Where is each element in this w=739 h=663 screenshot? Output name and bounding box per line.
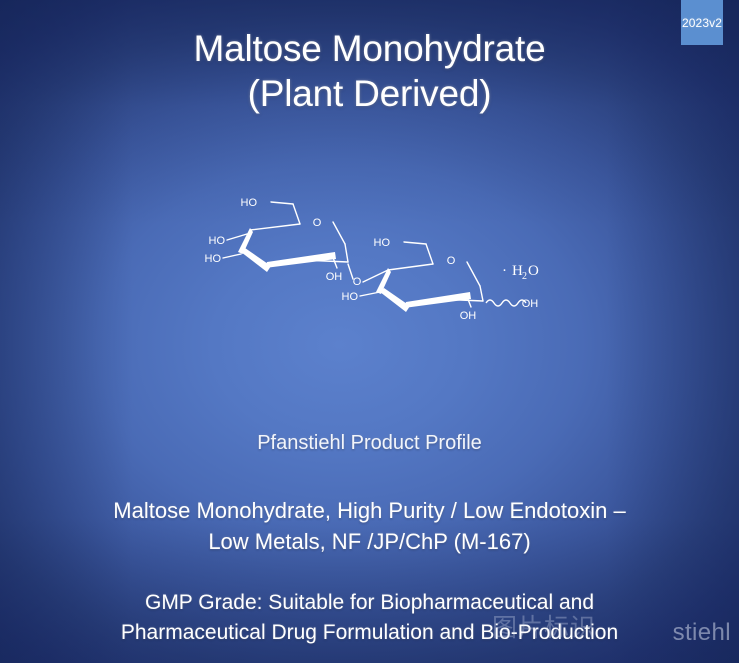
- label-ring1-oh-bottom: OH: [326, 271, 343, 283]
- product-description-line-1: Maltose Monohydrate, High Purity / Low E…: [0, 495, 739, 526]
- label-ring1-ho-top: HO: [241, 197, 258, 209]
- label-ring1-o-ring: O: [313, 217, 322, 229]
- hydrate-subscript: 2: [522, 271, 527, 282]
- molecule-svg: HO HO HO O OH O HO HO O OH OH · H 2 O: [205, 182, 565, 337]
- slide-canvas: 2023v2 Maltose Monohydrate (Plant Derive…: [0, 0, 739, 663]
- maltose-monohydrate-structure-image: HO HO HO O OH O HO HO O OH OH · H 2 O: [205, 182, 565, 337]
- label-ring1-ho-left: HO: [209, 235, 226, 247]
- hydrate-dot: ·: [502, 263, 507, 279]
- product-description-line-2: Low Metals, NF /JP/ChP (M-167): [0, 526, 739, 557]
- grade-statement-line-1: GMP Grade: Suitable for Biopharmaceutica…: [0, 588, 739, 618]
- subtitle: Pfanstiehl Product Profile: [0, 432, 739, 455]
- page-title: Maltose Monohydrate (Plant Derived): [0, 26, 739, 116]
- hydrate-label: · H 2 O: [502, 263, 539, 282]
- page-title-line-1: Maltose Monohydrate: [0, 26, 739, 71]
- label-glycosidic-o: O: [353, 276, 362, 288]
- label-ring2-o-ring: O: [447, 255, 456, 267]
- grade-statement: GMP Grade: Suitable for Biopharmaceutica…: [0, 588, 739, 649]
- product-description: Maltose Monohydrate, High Purity / Low E…: [0, 495, 739, 557]
- page-title-line-2: (Plant Derived): [0, 71, 739, 116]
- label-ring1-ho-lower: HO: [205, 253, 222, 265]
- grade-statement-line-2: Pharmaceutical Drug Formulation and Bio-…: [0, 618, 739, 648]
- label-ring2-oh-anomeric: OH: [522, 298, 539, 310]
- hydrate-o: O: [528, 263, 539, 279]
- label-ring2-ho-left: HO: [342, 291, 359, 303]
- label-ring2-ho-top: HO: [374, 237, 391, 249]
- wavy-bond-icon: [486, 300, 526, 306]
- label-ring2-oh-bottom: OH: [460, 310, 477, 322]
